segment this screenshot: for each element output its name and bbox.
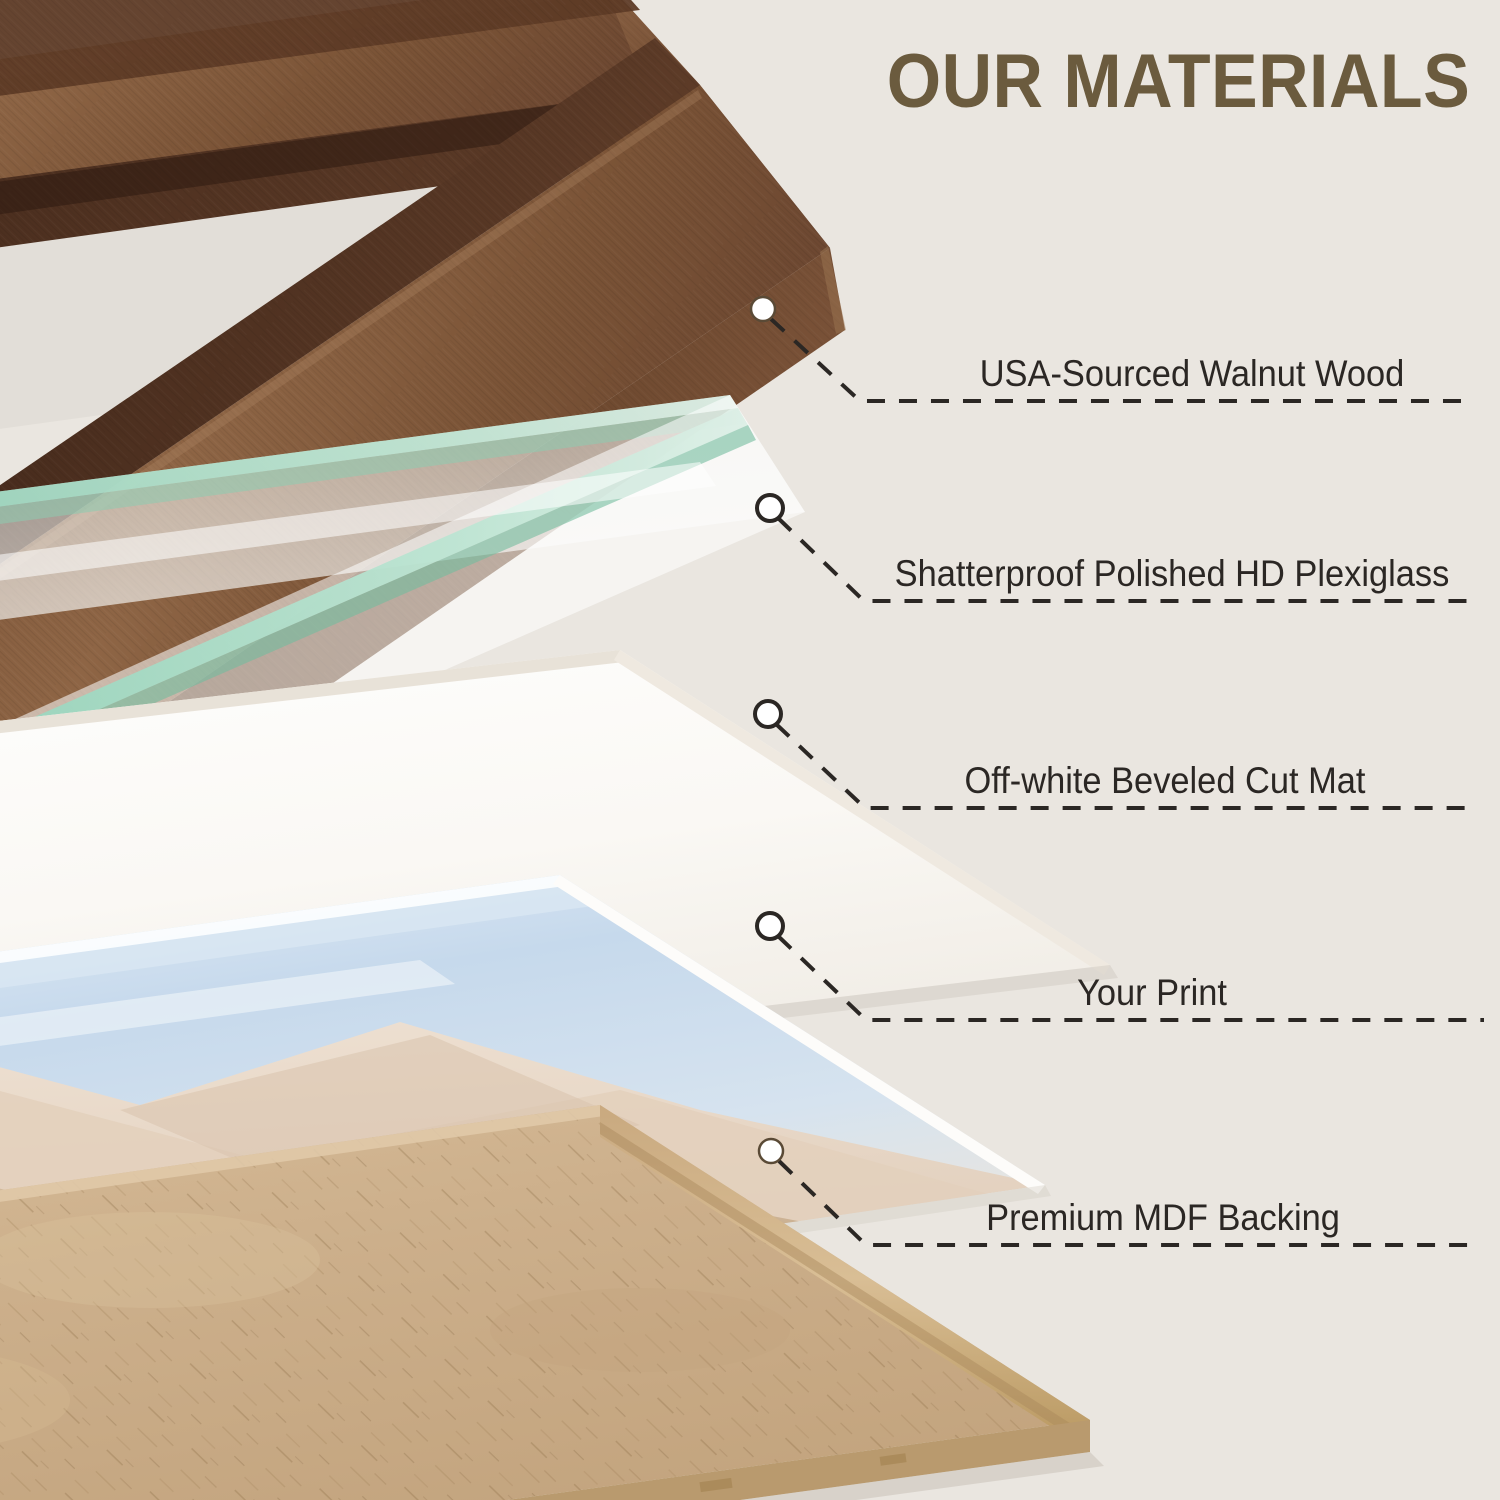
callout-label-walnut-wood: USA-Sourced Walnut Wood [980, 355, 1405, 392]
callout-label-your-print: Your Print [1077, 974, 1227, 1011]
materials-infographic: OUR MATERIALS USA-Sourced Walnut WoodSha… [0, 0, 1500, 1500]
callout-label-cut-mat: Off-white Beveled Cut Mat [964, 762, 1365, 799]
callout-overlay [0, 0, 1500, 1500]
filled-dot-marker[interactable] [759, 1139, 783, 1163]
callout-markers [751, 297, 783, 1163]
callout-label-plexiglass: Shatterproof Polished HD Plexiglass [895, 555, 1450, 592]
ring-marker[interactable] [755, 701, 781, 727]
callout-label-mdf-backing: Premium MDF Backing [986, 1199, 1340, 1236]
ring-marker[interactable] [757, 913, 783, 939]
ring-marker[interactable] [757, 495, 783, 521]
filled-dot-marker[interactable] [751, 297, 775, 321]
page-title: OUR MATERIALS [887, 44, 1470, 120]
